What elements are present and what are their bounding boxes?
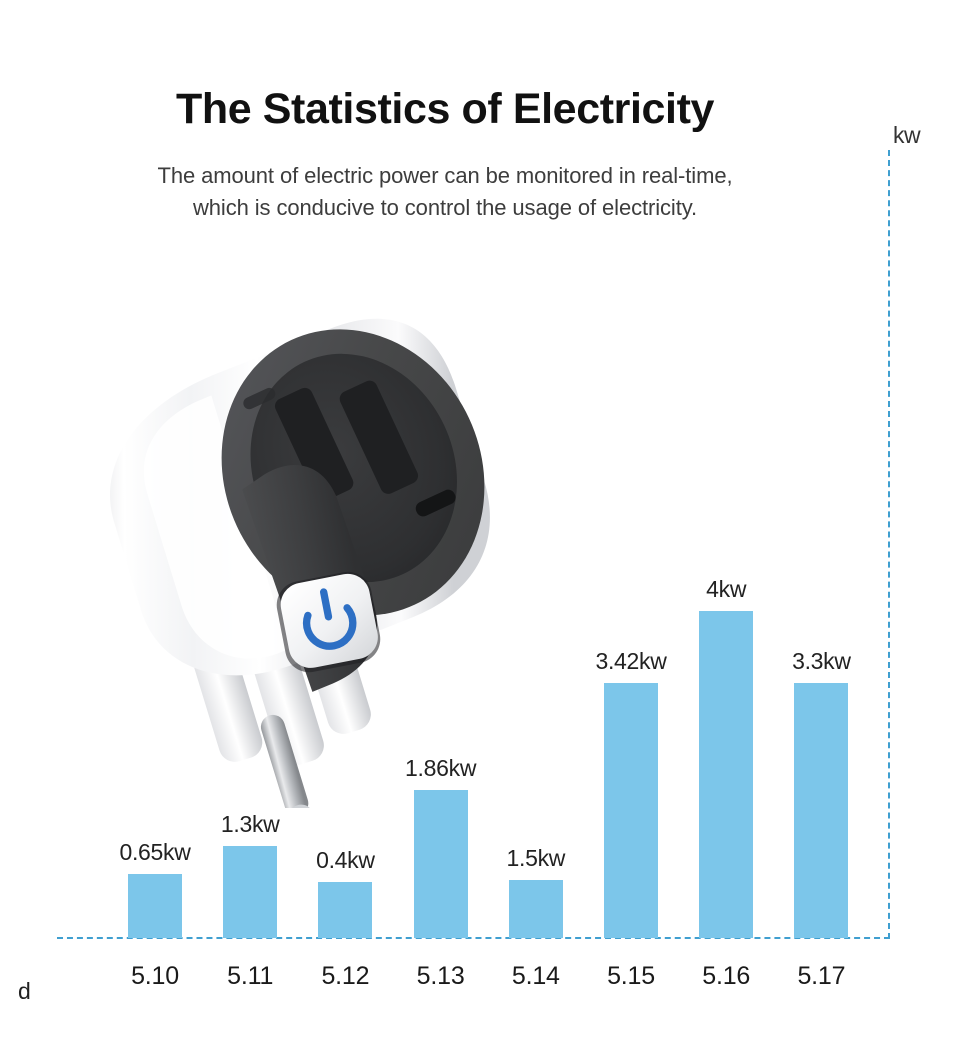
x-axis-tick-label: 5.12 <box>321 962 369 991</box>
bar-group[interactable]: 0.4kw5.12 <box>318 882 372 938</box>
bar[interactable] <box>509 880 563 938</box>
bar-value-label: 0.4kw <box>316 847 375 874</box>
bar[interactable] <box>699 611 753 938</box>
bar-value-label: 3.3kw <box>792 648 851 675</box>
bar-chart: 0.65kw5.101.3kw5.110.4kw5.121.86kw5.131.… <box>0 0 960 1062</box>
x-axis-tick-label: 5.10 <box>131 962 179 991</box>
bar[interactable] <box>794 683 848 938</box>
bar[interactable] <box>318 882 372 938</box>
bar-value-label: 0.65kw <box>119 839 190 866</box>
bar-group[interactable]: 3.42kw5.15 <box>604 683 658 938</box>
bar[interactable] <box>128 874 182 938</box>
bar-value-label: 4kw <box>706 576 746 603</box>
bar-value-label: 1.3kw <box>221 811 280 838</box>
bar-value-label: 1.86kw <box>405 755 476 782</box>
bar-value-label: 1.5kw <box>507 845 566 872</box>
bar-group[interactable]: 4kw5.16 <box>699 611 753 938</box>
x-axis-tick-label: 5.16 <box>702 962 750 991</box>
bar-group[interactable]: 1.3kw5.11 <box>223 846 277 938</box>
poster-page: The Statistics of Electricity The amount… <box>0 0 960 1062</box>
bar[interactable] <box>223 846 277 938</box>
x-axis-tick-label: 5.13 <box>417 962 465 991</box>
x-axis-tick-label: 5.14 <box>512 962 560 991</box>
x-axis-tick-label: 5.17 <box>797 962 845 991</box>
bar[interactable] <box>414 790 468 938</box>
bar-group[interactable]: 1.86kw5.13 <box>414 790 468 938</box>
bar-value-label: 3.42kw <box>595 648 666 675</box>
bar-group[interactable]: 1.5kw5.14 <box>509 880 563 938</box>
bar-group[interactable]: 0.65kw5.10 <box>128 874 182 938</box>
bar-group[interactable]: 3.3kw5.17 <box>794 683 848 938</box>
bar[interactable] <box>604 683 658 938</box>
x-axis-tick-label: 5.11 <box>227 962 273 991</box>
x-axis-tick-label: 5.15 <box>607 962 655 991</box>
